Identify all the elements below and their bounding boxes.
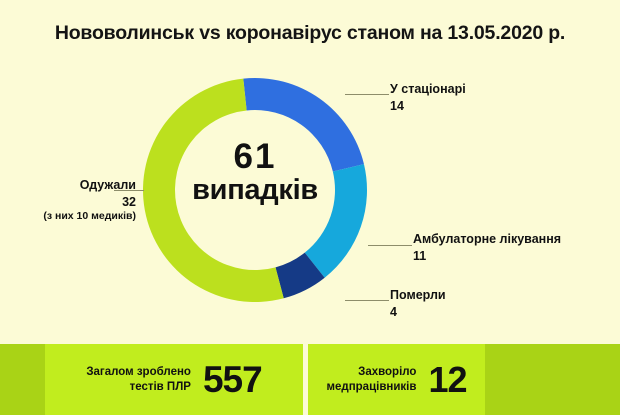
- callout-hospital: У стаціонарі 14: [390, 82, 466, 114]
- callout-ambulatory-label: Амбулаторне лікування: [413, 232, 561, 248]
- stat-medics-label-line1: Захворіло: [327, 365, 417, 379]
- callout-recovered-value: 32: [12, 194, 136, 210]
- callout-recovered-note: (з них 10 медиків): [12, 210, 136, 224]
- callout-hospital-value: 14: [390, 98, 466, 114]
- callout-died-label: Померли: [390, 288, 446, 304]
- stat-tests-label: Загалом зроблено тестів ПЛР: [86, 365, 191, 393]
- band-strip-left: [0, 344, 45, 415]
- callout-died-value: 4: [390, 304, 446, 320]
- donut-segment-1[interactable]: [243, 78, 364, 171]
- donut-segment-4[interactable]: [143, 79, 284, 302]
- leader-line-hospital: [345, 94, 389, 95]
- stat-medics-value: 12: [428, 362, 466, 398]
- stat-box-tests: Загалом зроблено тестів ПЛР 557: [45, 344, 303, 415]
- infographic-root: Нововолинськ vs коронавірус станом на 13…: [0, 0, 620, 415]
- page-title: Нововолинськ vs коронавірус станом на 13…: [0, 22, 620, 45]
- band-strip-right: [485, 344, 620, 415]
- callout-recovered-label: Одужали: [12, 178, 136, 194]
- donut-segment-2[interactable]: [305, 164, 367, 278]
- stat-medics-label: Захворіло медпрацівників: [327, 365, 417, 393]
- stat-medics-label-line2: медпрацівників: [327, 380, 417, 394]
- callout-recovered: Одужали 32 (з них 10 медиків): [12, 178, 136, 224]
- stat-box-medics: Захворіло медпрацівників 12: [308, 344, 485, 415]
- callout-hospital-label: У стаціонарі: [390, 82, 466, 98]
- stat-tests-value: 557: [203, 361, 262, 398]
- callout-ambulatory-value: 11: [413, 248, 561, 264]
- leader-line-died: [345, 300, 389, 301]
- bottom-stats-band: Загалом зроблено тестів ПЛР 557 Захворіл…: [0, 344, 620, 415]
- stat-tests-label-line1: Загалом зроблено: [86, 365, 191, 379]
- callout-died: Померли 4: [390, 288, 446, 320]
- leader-line-ambulatory: [368, 245, 412, 246]
- donut-chart-svg: [140, 75, 370, 305]
- callout-ambulatory: Амбулаторне лікування 11: [413, 232, 561, 264]
- donut-chart: [140, 75, 370, 305]
- stat-tests-label-line2: тестів ПЛР: [86, 380, 191, 394]
